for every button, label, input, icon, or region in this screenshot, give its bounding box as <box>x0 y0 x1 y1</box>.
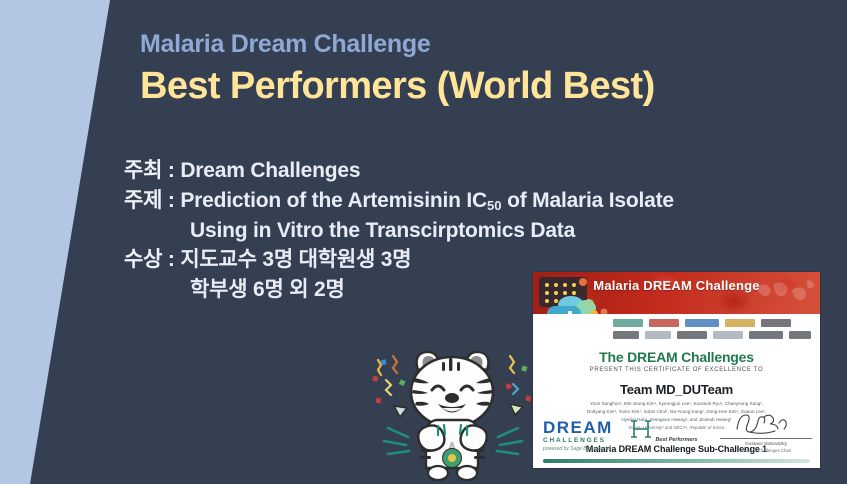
detail-row-topic-cont: Using in Vitro the Transcirptomics Data <box>124 216 674 246</box>
detail-row-host: 주최 : Dream Challenges <box>124 156 674 186</box>
partner-logo-drug-research <box>725 319 755 327</box>
partner-logo-idp-research <box>613 331 639 339</box>
topic-line1-pre: Prediction of the Artemisinin IC <box>180 189 487 212</box>
detail-list: 주최 : Dream Challenges 주제 : Prediction of… <box>124 156 674 305</box>
partner-logo-ten <box>789 331 811 339</box>
certificate-present-line: PRESENT THIS CERTIFICATE OF EXCELLENCE T… <box>543 367 810 373</box>
partner-logo-university <box>677 331 707 339</box>
dream-challenges-logo: DREAM CHALLENGES powered by Sage Bionetw… <box>543 419 653 452</box>
certificate-signer-role: DREAM Challenges Chair <box>720 448 812 454</box>
certificate-signature-block: Gustavo Stolovitzky DREAM Challenges Cha… <box>720 411 812 454</box>
logo-row-top <box>611 317 820 329</box>
world-map-decoration <box>752 276 816 310</box>
certificate-footer: DREAM CHALLENGES powered by Sage Bionetw… <box>533 412 820 468</box>
left-diagonal-accent <box>0 0 130 484</box>
award-label: 수상 : <box>124 248 180 271</box>
dream-logo-powered-by: powered by Sage Bionetworks <box>543 446 653 452</box>
signature-icon <box>729 411 803 437</box>
presentation-slide: Malaria Dream Challenge Best Performers … <box>0 0 847 484</box>
partner-logo-global-health <box>613 319 643 327</box>
eyebrow-title: Malaria Dream Challenge <box>140 30 655 59</box>
partner-logo-wellcome <box>685 319 719 327</box>
certificate-organization: The DREAM Challenges <box>543 349 810 365</box>
certificate-bottom-accent-bar <box>543 459 810 463</box>
dream-network-glyph-icon <box>629 417 653 441</box>
certificate-team-name: Team MD_DUTeam <box>543 382 810 397</box>
detail-row-award-cont: 학부생 6명 외 2명 <box>124 275 674 305</box>
topic-line1-post: of Malaria Isolate <box>501 189 673 212</box>
topic-line2: Using in Vitro the Transcirptomics Data <box>190 219 575 242</box>
heading-block: Malaria Dream Challenge Best Performers … <box>140 30 655 108</box>
award-line1: 지도교수 3명 대학원생 3명 <box>180 248 411 271</box>
partner-logo-sage <box>645 331 671 339</box>
detail-row-topic: 주제 : Prediction of the Artemisinin IC50 … <box>124 186 674 216</box>
partner-logo-cdc <box>713 331 743 339</box>
host-label: 주최 : <box>124 159 180 182</box>
signature-rule <box>720 438 812 439</box>
certificate-signer-name: Gustavo Stolovitzky <box>720 441 812 448</box>
host-value: Dream Challenges <box>180 159 360 182</box>
partner-logo-hsrhmalaria <box>749 331 783 339</box>
award-line2: 학부생 6명 외 2명 <box>190 278 345 301</box>
partner-logo-five <box>761 319 791 327</box>
logo-row-bottom <box>611 329 820 341</box>
partner-logo-mesa <box>649 319 679 327</box>
detail-row-award: 수상 : 지도교수 3명 대학원생 3명 <box>124 245 674 275</box>
white-tiger-mascot-icon <box>360 338 545 484</box>
page-title: Best Performers (World Best) <box>140 66 655 108</box>
topic-label: 주제 : <box>124 189 180 212</box>
certificate-partner-logos <box>533 314 820 345</box>
ic50-subscript: 50 <box>487 198 501 213</box>
certificate-authors-line1: Yoon Sanghoo¹, Min-Jeong Kim¹, Kyeongjun… <box>551 400 802 408</box>
